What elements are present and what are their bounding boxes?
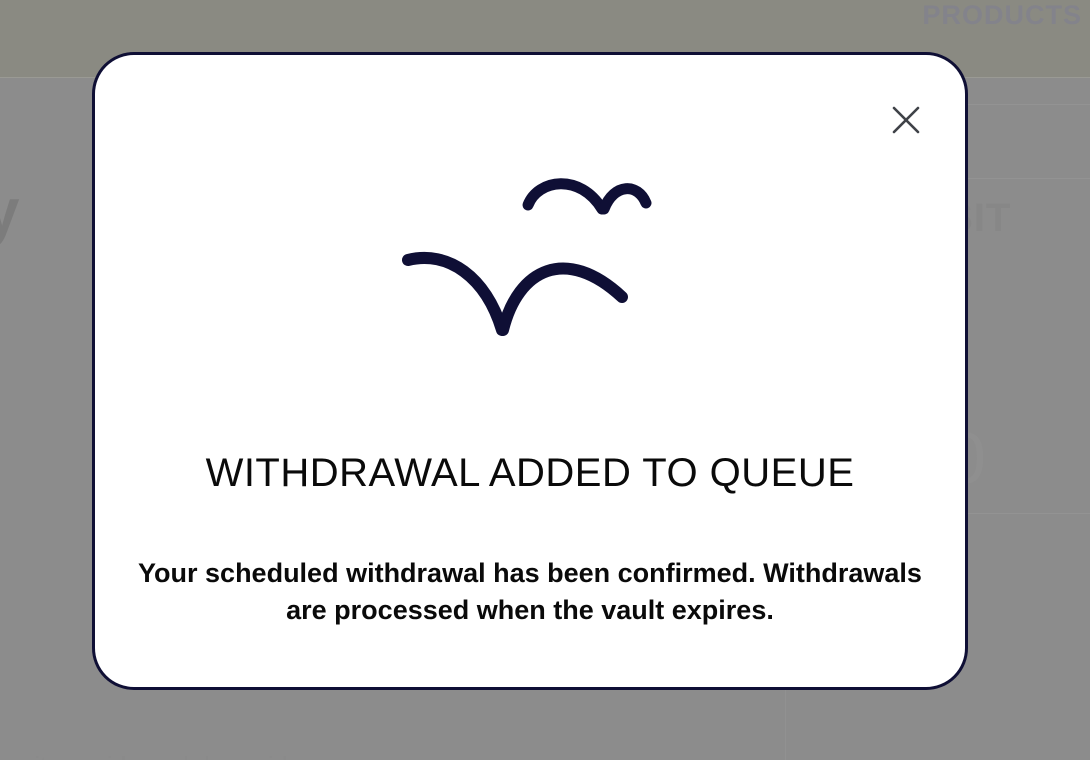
background-paragraph-line-2: has both equity upside and downside (0, 752, 301, 760)
nav-item-products[interactable]: PRODUCTS (922, 0, 1082, 31)
modal-body-text: Your scheduled withdrawal has been confi… (130, 555, 930, 629)
two-birds-logo (95, 165, 965, 350)
withdrawal-confirmation-modal: WITHDRAWAL ADDED TO QUEUE Your scheduled… (92, 52, 968, 690)
close-icon[interactable] (889, 103, 923, 137)
page-title: WITHDRAWAL ADDED TO QUEUE (95, 451, 965, 496)
background-hero-title: ry (0, 174, 19, 248)
screen: PRODUCTS ry ng a ith n coupon has both e… (0, 0, 1090, 760)
